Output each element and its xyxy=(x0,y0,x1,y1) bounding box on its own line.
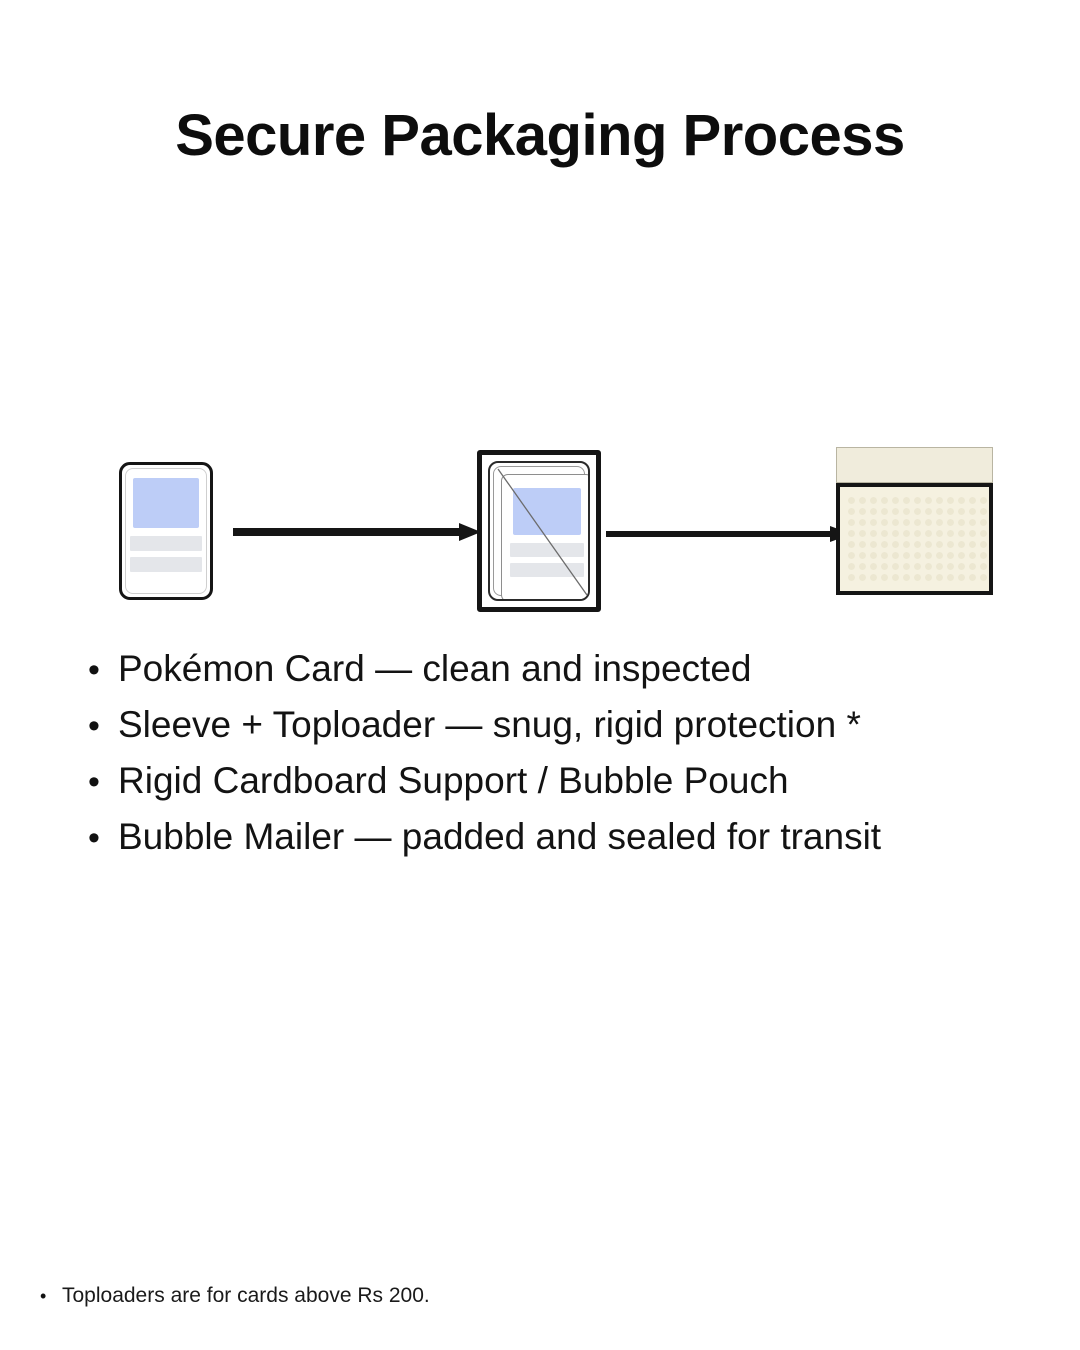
page-title: Secure Packaging Process xyxy=(0,104,1080,168)
bubble-wrap-texture xyxy=(844,493,987,585)
mailer-flap xyxy=(836,447,993,483)
arrow-sleeve-to-mailer-icon xyxy=(606,521,852,547)
arrow-card-to-sleeve-icon xyxy=(233,519,481,545)
bullet-marker-icon: • xyxy=(88,765,118,799)
sleeve-toploader-icon xyxy=(477,450,601,612)
card-text-bar-1 xyxy=(130,536,202,551)
footnote-label: Toploaders are for cards above Rs 200. xyxy=(62,1283,430,1308)
trading-card-icon xyxy=(119,462,213,600)
list-item: • Pokémon Card — clean and inspected xyxy=(88,648,1048,704)
bullet-marker-icon: • xyxy=(88,653,118,687)
bullet-marker-icon: • xyxy=(88,709,118,743)
list-item: • Bubble Mailer — padded and sealed for … xyxy=(88,816,1048,872)
list-item-label: Sleeve + Toploader — snug, rigid protect… xyxy=(118,704,861,747)
mailer-body xyxy=(836,483,993,595)
card-sleeve xyxy=(488,461,590,601)
card-artwork-block xyxy=(133,478,200,528)
list-item-label: Rigid Cardboard Support / Bubble Pouch xyxy=(118,760,789,803)
list-item-label: Bubble Mailer — padded and sealed for tr… xyxy=(118,816,881,859)
footnote-bullet-marker-icon: • xyxy=(40,1287,62,1305)
packaging-steps-list: • Pokémon Card — clean and inspected • S… xyxy=(88,648,1048,872)
sleeve-shine-line xyxy=(490,463,590,601)
bullet-marker-icon: • xyxy=(88,821,118,855)
bubble-mailer-icon xyxy=(836,447,993,595)
card-text-bar-2 xyxy=(130,557,202,572)
list-item: • Sleeve + Toploader — snug, rigid prote… xyxy=(88,704,1048,760)
list-item: • Rigid Cardboard Support / Bubble Pouch xyxy=(88,760,1048,816)
list-item-label: Pokémon Card — clean and inspected xyxy=(118,648,751,691)
footnote: • Toploaders are for cards above Rs 200. xyxy=(40,1283,940,1308)
